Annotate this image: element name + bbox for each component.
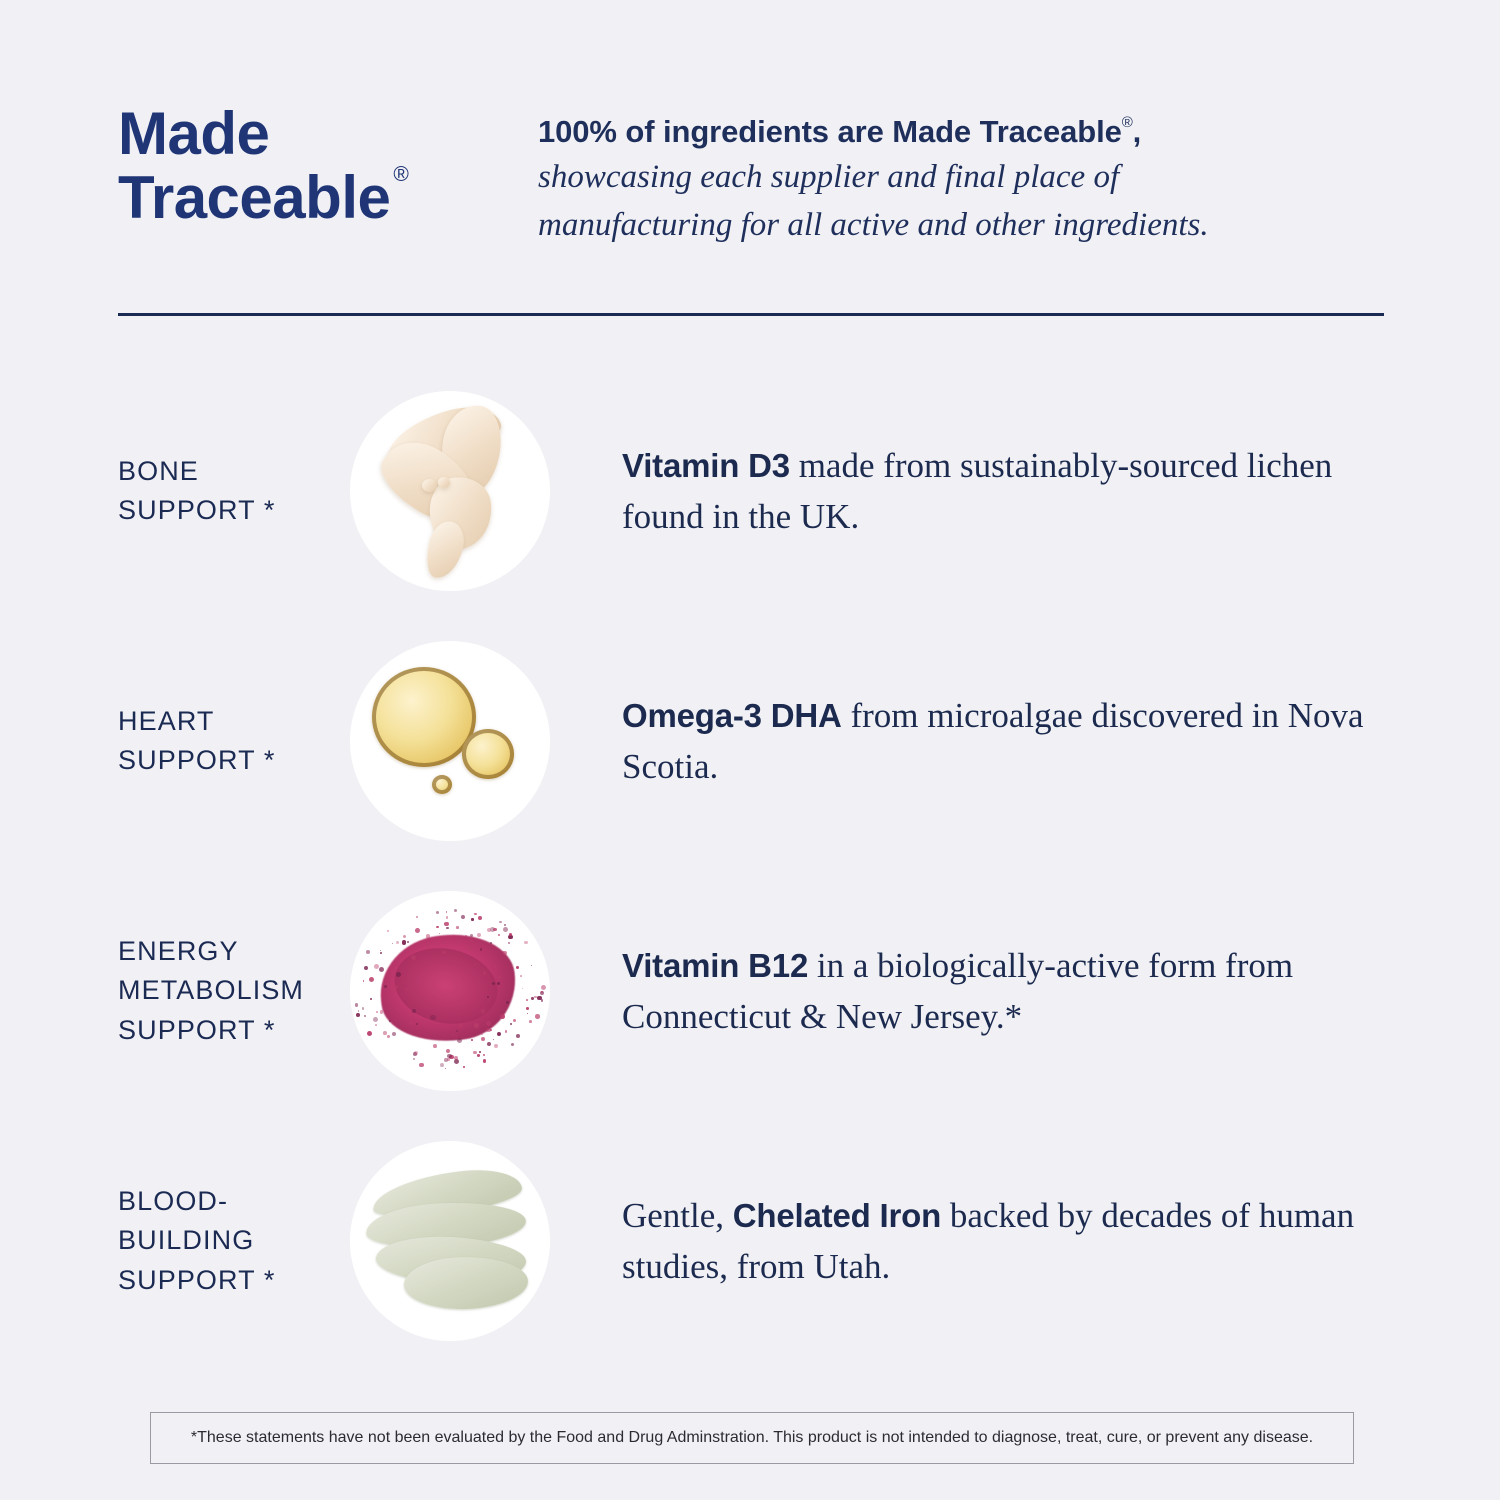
brand-logo-line1: Made — [118, 102, 538, 166]
benefit-label-line: METABOLISM — [118, 971, 320, 1010]
registered-trademark-icon: ® — [1122, 114, 1133, 131]
footnote-asterisk: * — [264, 745, 275, 775]
made-traceable-infographic: Made Traceable® 100% of ingredients are … — [0, 0, 1500, 1500]
footnote-asterisk: * — [264, 1015, 275, 1045]
benefit-label-line: ENERGY — [118, 932, 320, 971]
headline-bold-line: 100% of ingredients are Made Traceable®, — [538, 110, 1384, 154]
headline-bold-tail: , — [1133, 114, 1142, 149]
benefit-row: HEART SUPPORT * Omega-3 DHA from microal… — [0, 616, 1500, 866]
ingredient-name: Vitamin B12 — [622, 947, 808, 984]
footnote-asterisk: * — [264, 1265, 275, 1295]
benefit-label-line: BLOOD- — [118, 1182, 320, 1221]
benefit-label-line: SUPPORT — [118, 495, 255, 525]
benefit-label: HEART SUPPORT * — [0, 702, 320, 780]
golden-oil-droplets-swatch — [350, 641, 550, 841]
benefit-label-line: SUPPORT — [118, 1265, 255, 1295]
magenta-powder-swatch — [350, 891, 550, 1091]
headline-italic-line-1: showcasing each supplier and final place… — [538, 154, 1384, 202]
benefit-description: Gentle, Chelated Iron backed by decades … — [580, 1190, 1500, 1292]
benefit-label-line: HEART — [118, 702, 320, 741]
ingredient-name: Vitamin D3 — [622, 447, 790, 484]
disclaimer-box: *These statements have not been evaluate… — [150, 1412, 1354, 1464]
benefit-media — [320, 1141, 580, 1341]
header: Made Traceable® 100% of ingredients are … — [118, 96, 1384, 249]
benefit-row: BONE SUPPORT * Vitamin D3 made from sust… — [0, 366, 1500, 616]
benefit-label: BLOOD- BUILDING SUPPORT * — [0, 1182, 320, 1299]
brand-logo-line2: Traceable — [118, 164, 390, 231]
benefit-media — [320, 891, 580, 1091]
benefit-label-line: BUILDING — [118, 1221, 320, 1260]
headline-block: 100% of ingredients are Made Traceable®,… — [538, 96, 1384, 249]
benefit-label-line: BONE — [118, 452, 320, 491]
benefit-description: Omega-3 DHA from microalgae discovered i… — [580, 690, 1500, 792]
footnote-asterisk: * — [264, 495, 275, 525]
headline-bold-text: 100% of ingredients are Made Traceable — [538, 114, 1122, 149]
registered-trademark-icon: ® — [393, 163, 408, 186]
benefit-row: BLOOD- BUILDING SUPPORT * Gentle, Chelat… — [0, 1116, 1500, 1366]
ingredient-lead: Gentle, — [622, 1196, 733, 1235]
ingredient-name: Chelated Iron — [733, 1197, 941, 1234]
cream-splash-swatch — [350, 391, 550, 591]
brand-logo: Made Traceable® — [118, 96, 538, 229]
benefit-label-line: SUPPORT — [118, 1015, 255, 1045]
benefit-media — [320, 641, 580, 841]
disclaimer-text: *These statements have not been evaluate… — [191, 1428, 1313, 1447]
benefit-description: Vitamin D3 made from sustainably-sourced… — [580, 440, 1500, 542]
headline-italic-line-2: manufacturing for all active and other i… — [538, 202, 1384, 250]
benefit-rows: BONE SUPPORT * Vitamin D3 made from sust… — [0, 366, 1500, 1366]
sage-green-paste-swatch — [350, 1141, 550, 1341]
ingredient-name: Omega-3 DHA — [622, 697, 842, 734]
benefit-label: ENERGY METABOLISM SUPPORT * — [0, 932, 320, 1049]
benefit-label: BONE SUPPORT * — [0, 452, 320, 530]
benefit-media — [320, 391, 580, 591]
benefit-row: ENERGY METABOLISM SUPPORT * Vitamin B12 … — [0, 866, 1500, 1116]
benefit-description: Vitamin B12 in a biologically-active for… — [580, 940, 1500, 1042]
benefit-label-line: SUPPORT — [118, 745, 255, 775]
header-divider — [118, 313, 1384, 316]
